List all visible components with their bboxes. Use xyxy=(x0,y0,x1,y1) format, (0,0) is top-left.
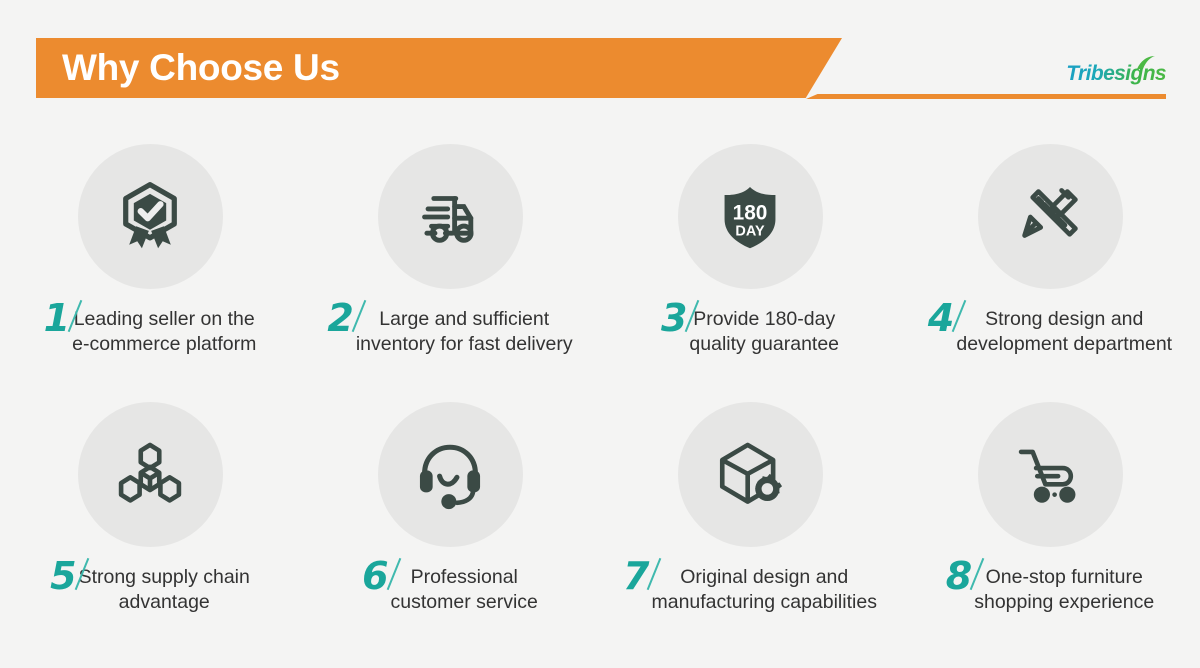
feature-caption: 5 Strong supply chainadvantage xyxy=(0,559,300,615)
shield-180-day-icon: 180 DAY xyxy=(713,180,787,254)
feature-cell-3[interactable]: 180 DAY 3 Provide 180-dayquality guarant… xyxy=(600,128,900,386)
feature-icon-circle xyxy=(78,402,223,547)
feature-number: 6 xyxy=(362,559,388,593)
feature-caption: 8 One-stop furnitureshopping experience xyxy=(900,559,1200,615)
feature-icon-circle: 180 DAY xyxy=(678,144,823,289)
feature-icon-circle xyxy=(378,144,523,289)
feature-caption: 3 Provide 180-dayquality guarantee xyxy=(600,301,900,357)
feature-icon-circle xyxy=(978,144,1123,289)
feature-text: Original design andmanufacturing capabil… xyxy=(651,559,876,615)
feature-text: One-stop furnitureshopping experience xyxy=(974,559,1154,615)
feature-caption: 2 Large and sufficientinventory for fast… xyxy=(300,301,600,357)
feature-icon-circle xyxy=(78,144,223,289)
feature-cell-8[interactable]: 8 One-stop furnitureshopping experience xyxy=(900,386,1200,644)
shield-bottom-text: DAY xyxy=(735,223,765,239)
feature-icon-circle xyxy=(678,402,823,547)
feature-caption: 4 Strong design anddevelopment departmen… xyxy=(900,301,1200,357)
box-gear-icon xyxy=(713,438,787,512)
shield-top-text: 180 xyxy=(733,201,768,224)
feature-number: 4 xyxy=(928,301,954,335)
feature-cell-2[interactable]: 2 Large and sufficientinventory for fast… xyxy=(300,128,600,386)
feature-icon-circle xyxy=(378,402,523,547)
feature-caption: 7 Original design andmanufacturing capab… xyxy=(600,559,900,615)
supply-network-icon xyxy=(113,438,187,512)
feature-number: 3 xyxy=(661,301,687,335)
feature-text: Professionalcustomer service xyxy=(391,559,538,615)
ruler-pencil-icon xyxy=(1013,180,1087,254)
brand-logo: Tribesigns xyxy=(1066,62,1166,86)
shopping-cart-icon xyxy=(1013,438,1087,512)
feature-cell-6[interactable]: 6 Professionalcustomer service xyxy=(300,386,600,644)
headset-icon xyxy=(413,438,487,512)
header-rule xyxy=(806,94,1166,99)
feature-caption: 1 Leading seller on thee-commerce platfo… xyxy=(0,301,300,357)
feature-text: Leading seller on thee-commerce platform xyxy=(72,301,256,357)
feature-number: 7 xyxy=(623,559,649,593)
feature-number: 5 xyxy=(50,559,76,593)
page-header: Why Choose Us Tribesigns xyxy=(0,0,1200,128)
page-title: Why Choose Us xyxy=(62,44,340,92)
delivery-truck-icon xyxy=(413,180,487,254)
feature-grid: 1 Leading seller on thee-commerce platfo… xyxy=(0,128,1200,668)
feature-cell-4[interactable]: 4 Strong design anddevelopment departmen… xyxy=(900,128,1200,386)
feature-text: Strong design anddevelopment department xyxy=(956,301,1172,357)
feature-number: 2 xyxy=(327,301,353,335)
feature-text: Strong supply chainadvantage xyxy=(79,559,250,615)
feature-number: 8 xyxy=(946,559,972,593)
feature-icon-circle xyxy=(978,402,1123,547)
feature-cell-7[interactable]: 7 Original design andmanufacturing capab… xyxy=(600,386,900,644)
badge-check-icon xyxy=(113,180,187,254)
feature-caption: 6 Professionalcustomer service xyxy=(300,559,600,615)
feature-number: 1 xyxy=(44,301,70,335)
feature-text: Large and sufficientinventory for fast d… xyxy=(356,301,573,357)
feature-text: Provide 180-dayquality guarantee xyxy=(689,301,839,357)
feature-cell-5[interactable]: 5 Strong supply chainadvantage xyxy=(0,386,300,644)
feature-cell-1[interactable]: 1 Leading seller on thee-commerce platfo… xyxy=(0,128,300,386)
